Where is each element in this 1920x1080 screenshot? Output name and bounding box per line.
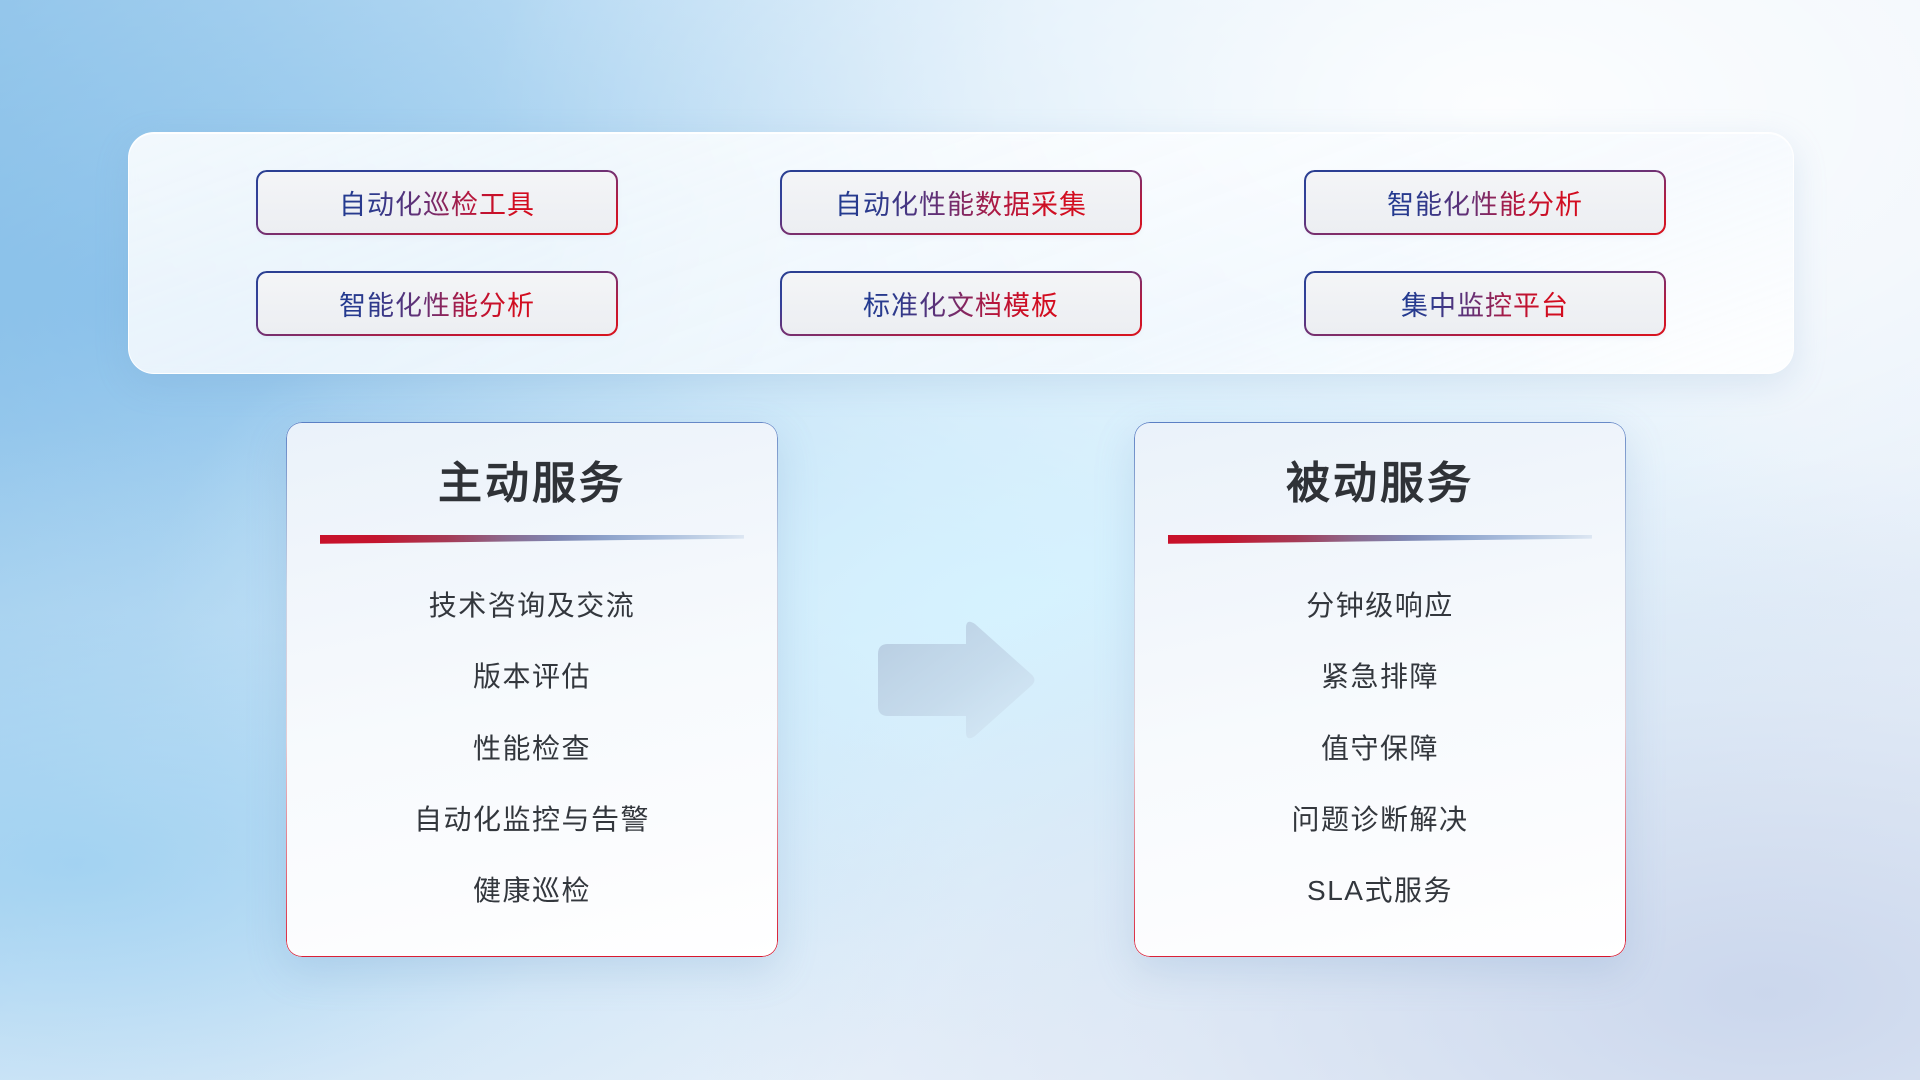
service-card-passive-divider xyxy=(1168,535,1592,545)
list-item: 技术咨询及交流 xyxy=(429,588,636,624)
list-item: 自动化监控与告警 xyxy=(414,802,650,838)
capability-pill-label: 智能化性能分析 xyxy=(1387,183,1583,222)
service-card-active[interactable]: 主动服务 技术咨询及交流 版本评估 性能检查 自动化监控与告警 健康巡检 xyxy=(286,422,778,957)
list-item: 版本评估 xyxy=(473,659,591,695)
service-card-active-list: 技术咨询及交流 版本评估 性能检查 自动化监控与告警 健康巡检 xyxy=(320,571,744,933)
capability-pill-label: 集中监控平台 xyxy=(1401,284,1569,323)
capability-panel: 自动化巡检工具 自动化性能数据采集 智能化性能分析 智能化性能分析 标准化文档模… xyxy=(128,132,1794,374)
list-item: 紧急排障 xyxy=(1321,659,1439,695)
service-card-active-body: 主动服务 技术咨询及交流 版本评估 性能检查 自动化监控与告警 健康巡检 xyxy=(286,422,778,957)
right-arrow-icon xyxy=(874,618,1036,742)
service-card-passive[interactable]: 被动服务 分钟级响应 紧急排障 值守保障 问题诊断解决 SLA式服务 xyxy=(1134,422,1626,957)
service-card-passive-list: 分钟级响应 紧急排障 值守保障 问题诊断解决 SLA式服务 xyxy=(1168,571,1592,933)
list-item: 分钟级响应 xyxy=(1306,588,1454,624)
capability-pill-1[interactable]: 自动化性能数据采集 xyxy=(782,172,1140,234)
capability-pill-3[interactable]: 智能化性能分析 xyxy=(258,273,616,335)
capability-pill-label: 自动化巡检工具 xyxy=(339,183,535,222)
capability-pill-0[interactable]: 自动化巡检工具 xyxy=(258,172,616,234)
list-item: 值守保障 xyxy=(1321,731,1439,767)
service-card-active-divider xyxy=(320,535,744,545)
capability-pill-label: 自动化性能数据采集 xyxy=(835,183,1087,222)
capability-pill-5[interactable]: 集中监控平台 xyxy=(1306,273,1664,335)
capability-pill-label: 标准化文档模板 xyxy=(863,284,1059,323)
list-item: 健康巡检 xyxy=(473,873,591,909)
capability-pill-label: 智能化性能分析 xyxy=(339,284,535,323)
service-card-passive-body: 被动服务 分钟级响应 紧急排障 值守保障 问题诊断解决 SLA式服务 xyxy=(1134,422,1626,957)
capability-pill-grid: 自动化巡检工具 自动化性能数据采集 智能化性能分析 智能化性能分析 标准化文档模… xyxy=(129,133,1793,373)
capability-pill-4[interactable]: 标准化文档模板 xyxy=(782,273,1140,335)
list-item: 问题诊断解决 xyxy=(1291,802,1468,838)
list-item: 性能检查 xyxy=(473,731,591,767)
capability-pill-2[interactable]: 智能化性能分析 xyxy=(1306,172,1664,234)
list-item: SLA式服务 xyxy=(1307,873,1453,909)
service-card-passive-title: 被动服务 xyxy=(1286,458,1474,511)
service-card-active-title: 主动服务 xyxy=(438,458,626,511)
